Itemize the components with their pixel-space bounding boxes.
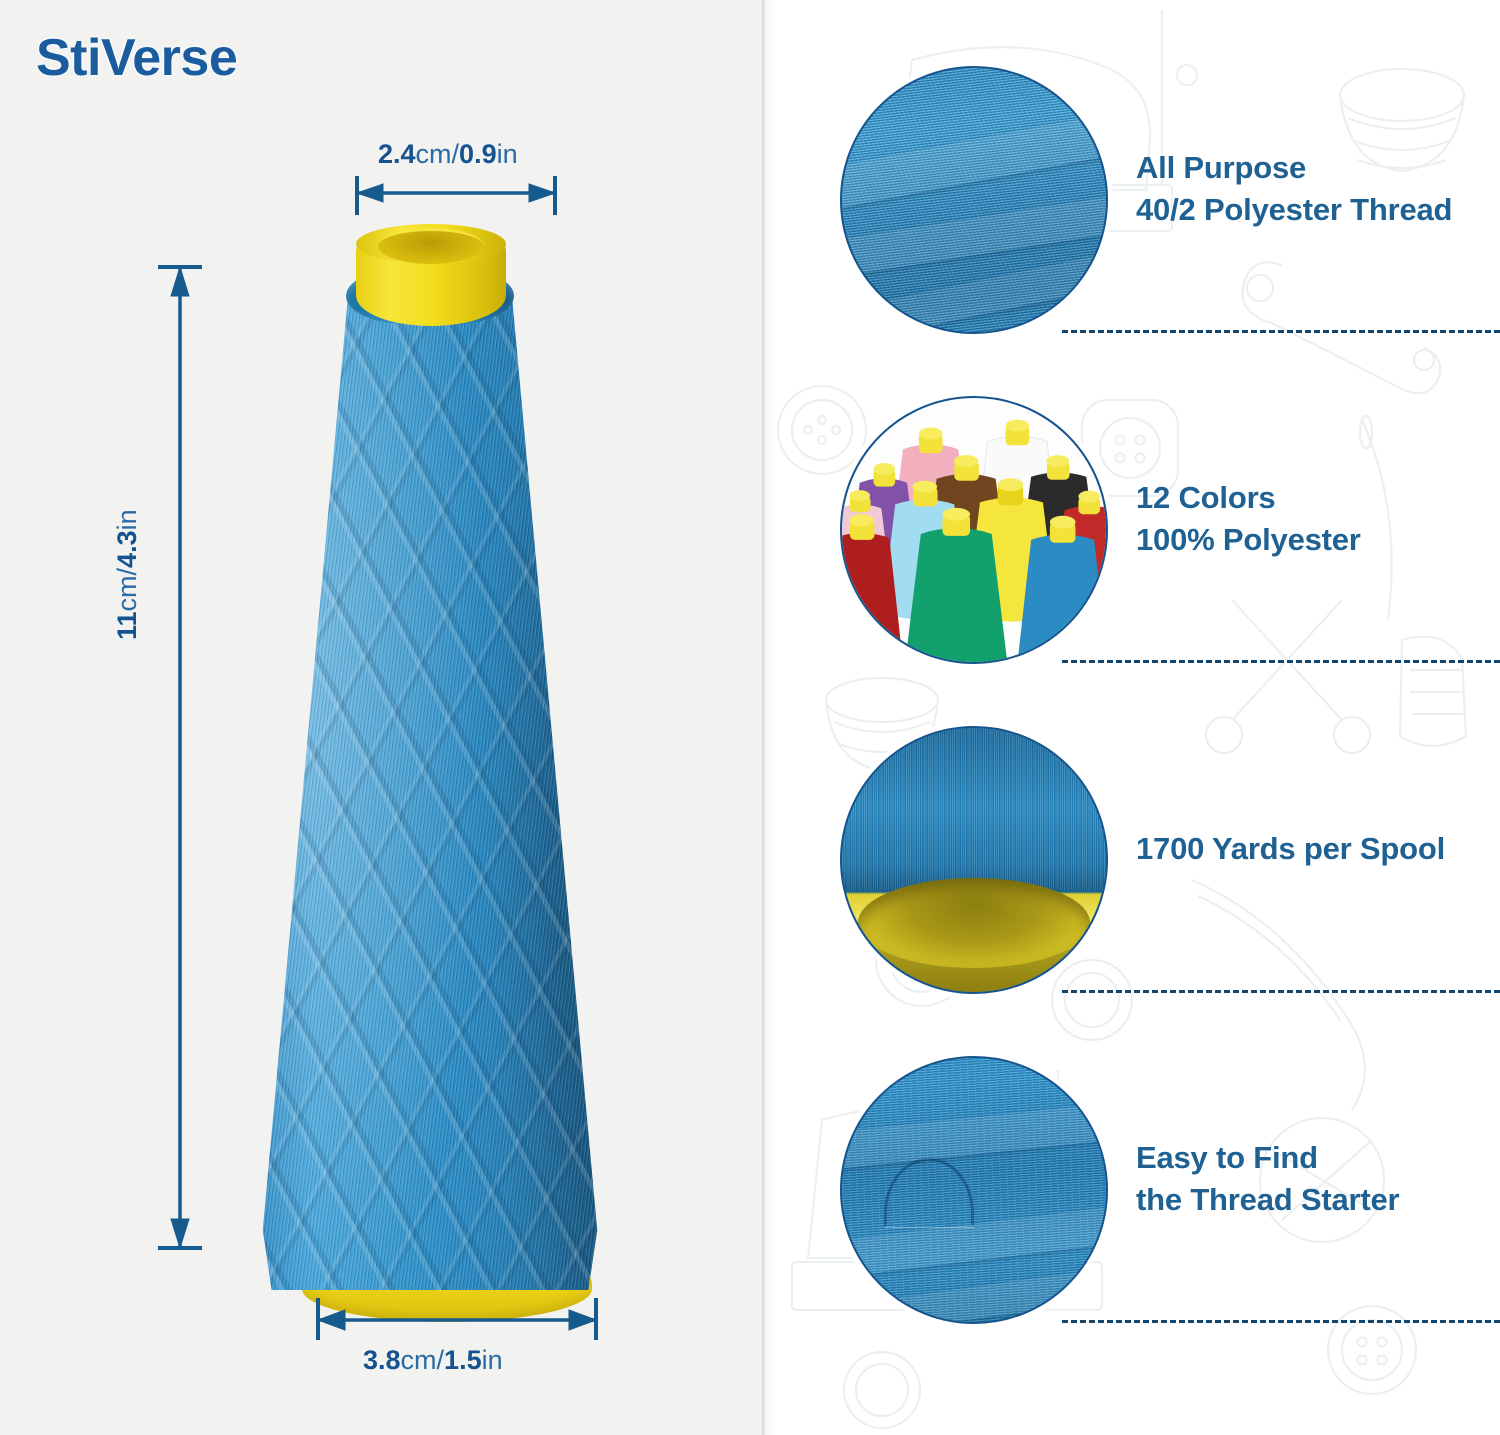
dim-bottom-value-cm: 3.8 <box>363 1345 401 1375</box>
thread-spool-illustration <box>210 232 650 1322</box>
dim-bottom-unit-in: in <box>482 1345 503 1375</box>
infographic-page: StiVerse <box>0 0 1500 1435</box>
dimension-label-bottom: 3.8cm/1.5in <box>363 1345 503 1376</box>
dimension-label-left: 11cm/4.3in <box>112 509 143 640</box>
feature-dashed-rule <box>1062 660 1500 663</box>
feature-item: 1700 Yards per Spool <box>762 708 1500 1038</box>
feature-dashed-rule <box>1062 990 1500 993</box>
feature-item: Easy to Find the Thread Starter <box>762 1038 1500 1368</box>
feature-line-2: 100% Polyester <box>1136 519 1500 561</box>
feature-list: All Purpose 40/2 Polyester Thread <box>762 0 1500 1435</box>
dim-bottom-value-in: 1.5 <box>444 1345 482 1375</box>
dim-top-value-cm: 2.4 <box>378 139 416 169</box>
dimension-label-top: 2.4cm/0.9in <box>378 139 518 170</box>
feature-line-2: 40/2 Polyester Thread <box>1136 189 1500 231</box>
feature-line-1: 12 Colors <box>1136 477 1500 519</box>
dim-left-unit-cm: cm/ <box>112 568 142 612</box>
twelve-color-spools-photo-icon <box>840 396 1108 664</box>
brand-logo: StiVerse <box>36 28 237 88</box>
feature-text-block: All Purpose 40/2 Polyester Thread <box>1136 48 1500 316</box>
feature-line-1: Easy to Find <box>1136 1137 1500 1179</box>
features-panel: All Purpose 40/2 Polyester Thread <box>762 0 1500 1435</box>
feature-item: 12 Colors 100% Polyester <box>762 378 1500 708</box>
feature-line-1: 1700 Yards per Spool <box>1136 828 1500 870</box>
spool-cap-hole <box>378 228 484 264</box>
dim-top-unit-in: in <box>497 139 518 169</box>
dim-left-value-in: 4.3 <box>112 530 142 568</box>
dim-top-value-in: 0.9 <box>459 139 497 169</box>
feature-text-block: 1700 Yards per Spool <box>1136 708 1500 976</box>
dim-left-unit-in: in <box>112 509 142 530</box>
thread-starter-photo-icon <box>840 1056 1108 1324</box>
feature-dashed-rule <box>1062 330 1500 333</box>
spool-thread-cone <box>210 290 650 1290</box>
feature-text-block: 12 Colors 100% Polyester <box>1136 378 1500 646</box>
feature-text-block: Easy to Find the Thread Starter <box>1136 1038 1500 1306</box>
dim-bottom-unit-cm: cm/ <box>401 1345 445 1375</box>
feature-line-2: the Thread Starter <box>1136 1179 1500 1221</box>
spool-base-photo-icon <box>840 726 1108 994</box>
feature-line-1: All Purpose <box>1136 147 1500 189</box>
feature-dashed-rule <box>1062 1320 1500 1323</box>
panel-divider <box>762 0 776 1435</box>
feature-item: All Purpose 40/2 Polyester Thread <box>762 48 1500 378</box>
thread-closeup-photo-icon <box>840 66 1108 334</box>
product-photo-panel: StiVerse <box>0 0 762 1435</box>
dim-top-unit-cm: cm/ <box>416 139 460 169</box>
dim-left-value-cm: 11 <box>112 611 142 640</box>
